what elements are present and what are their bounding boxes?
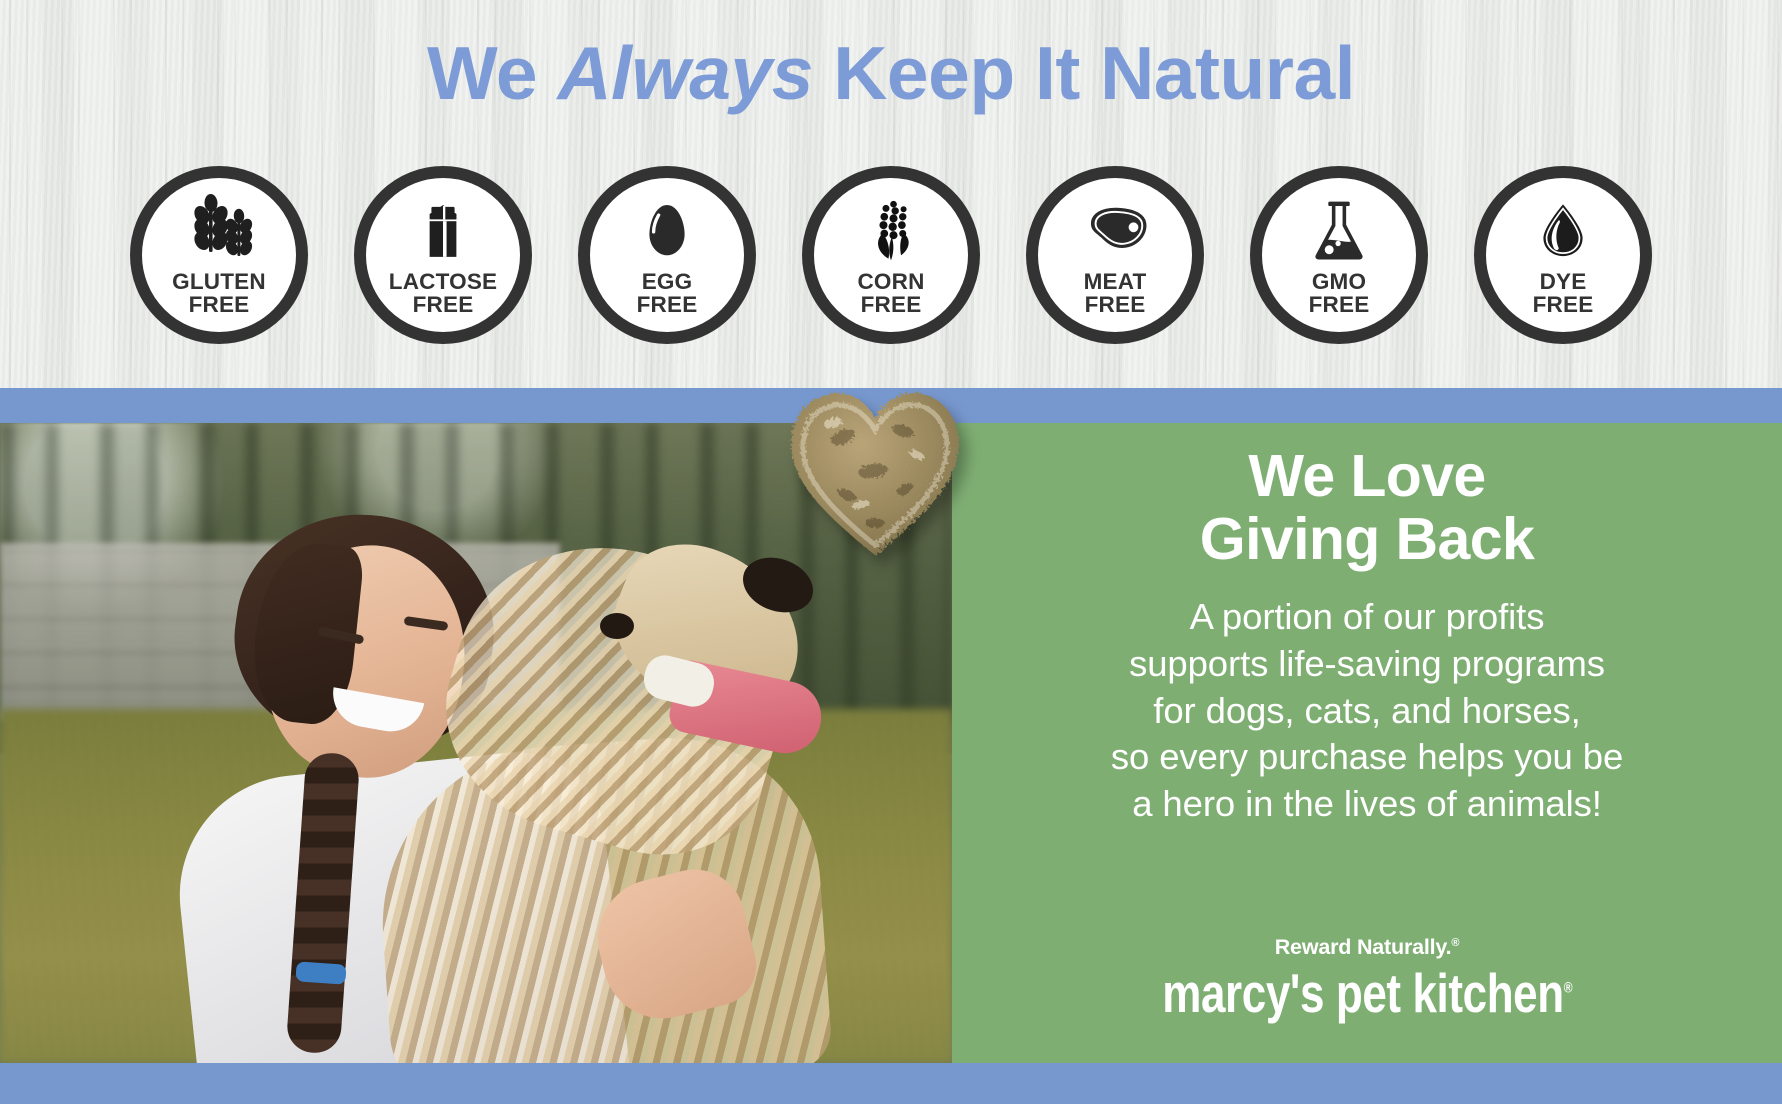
badge-gmo-free: GMO FREE — [1250, 166, 1428, 344]
promo-body: A portion of our profits supports life-s… — [1111, 594, 1623, 828]
badge-line2: FREE — [637, 292, 698, 317]
promo-title: We Love Giving Back — [1200, 445, 1534, 570]
photo-dog-eye — [600, 613, 634, 639]
badge-line1: MEAT — [1084, 269, 1147, 294]
badge-egg-free: EGG FREE — [578, 166, 756, 344]
badge-line1: GMO — [1312, 269, 1366, 294]
badge-label: GLUTEN FREE — [172, 270, 266, 317]
badge-line2: FREE — [413, 292, 474, 317]
brand-lockup: Reward Naturally.® marcy's pet kitchen® — [952, 935, 1782, 1021]
droplet-icon — [1526, 194, 1600, 268]
promo-body-line3: for dogs, cats, and horses, — [1153, 690, 1580, 731]
badge-line2: FREE — [1309, 292, 1370, 317]
promo-body-line2: supports life-saving programs — [1129, 643, 1605, 684]
badge-line1: DYE — [1540, 269, 1587, 294]
bottom-blue-bar — [0, 1063, 1782, 1104]
badge-dye-free: DYE FREE — [1474, 166, 1652, 344]
marketing-banner: We Always Keep It Natural — [0, 0, 1782, 1104]
badge-line1: EGG — [642, 269, 693, 294]
badge-corn-free: CORN FREE — [802, 166, 980, 344]
badge-lactose-free: LACTOSE FREE — [354, 166, 532, 344]
badge-line2: FREE — [189, 292, 250, 317]
corn-icon — [854, 194, 928, 268]
badge-line1: CORN — [857, 269, 924, 294]
badge-label: DYE FREE — [1533, 270, 1594, 317]
badge-line2: FREE — [1533, 292, 1594, 317]
wheat-icon — [182, 194, 256, 268]
promo-title-line2: Giving Back — [1200, 506, 1534, 572]
badge-label: EGG FREE — [637, 270, 698, 317]
attribute-badge-row: GLUTEN FREE LACTOSE — [0, 166, 1782, 346]
brand-logo-text: marcy's pet kitchen — [1162, 962, 1563, 1024]
promo-body-line4: so every purchase helps you be — [1111, 736, 1623, 777]
heart-treat-image — [785, 385, 965, 560]
page-title: We Always Keep It Natural — [0, 36, 1782, 111]
flask-icon — [1302, 194, 1376, 268]
brand-logo: marcy's pet kitchen® — [1162, 966, 1572, 1021]
egg-icon — [630, 194, 704, 268]
promo-body-line1: A portion of our profits — [1190, 596, 1545, 637]
badge-label: CORN FREE — [857, 270, 924, 317]
registered-mark-logo: ® — [1564, 980, 1572, 997]
badge-line1: GLUTEN — [172, 269, 266, 294]
steak-icon — [1078, 194, 1152, 268]
photo-woman-hair-tie — [295, 961, 346, 984]
brand-tagline: Reward Naturally.® — [952, 935, 1782, 960]
promo-title-line1: We Love — [1248, 443, 1485, 509]
badge-line2: FREE — [1085, 292, 1146, 317]
brand-tagline-text: Reward Naturally. — [1275, 935, 1452, 959]
promo-body-line5: a hero in the lives of animals! — [1132, 783, 1602, 824]
headline-italic-word: Always — [557, 31, 812, 115]
badge-gluten-free: GLUTEN FREE — [130, 166, 308, 344]
milk-carton-icon — [406, 194, 480, 268]
registered-mark-tagline: ® — [1451, 937, 1459, 949]
giving-back-panel: We Love Giving Back A portion of our pro… — [952, 423, 1782, 1063]
badge-label: GMO FREE — [1309, 270, 1370, 317]
badge-line2: FREE — [861, 292, 922, 317]
badge-label: MEAT FREE — [1084, 270, 1147, 317]
badge-label: LACTOSE FREE — [389, 270, 498, 317]
badge-meat-free: MEAT FREE — [1026, 166, 1204, 344]
badge-line1: LACTOSE — [389, 269, 498, 294]
headline-part1: We — [427, 31, 557, 115]
headline-part2: Keep It Natural — [813, 31, 1355, 115]
